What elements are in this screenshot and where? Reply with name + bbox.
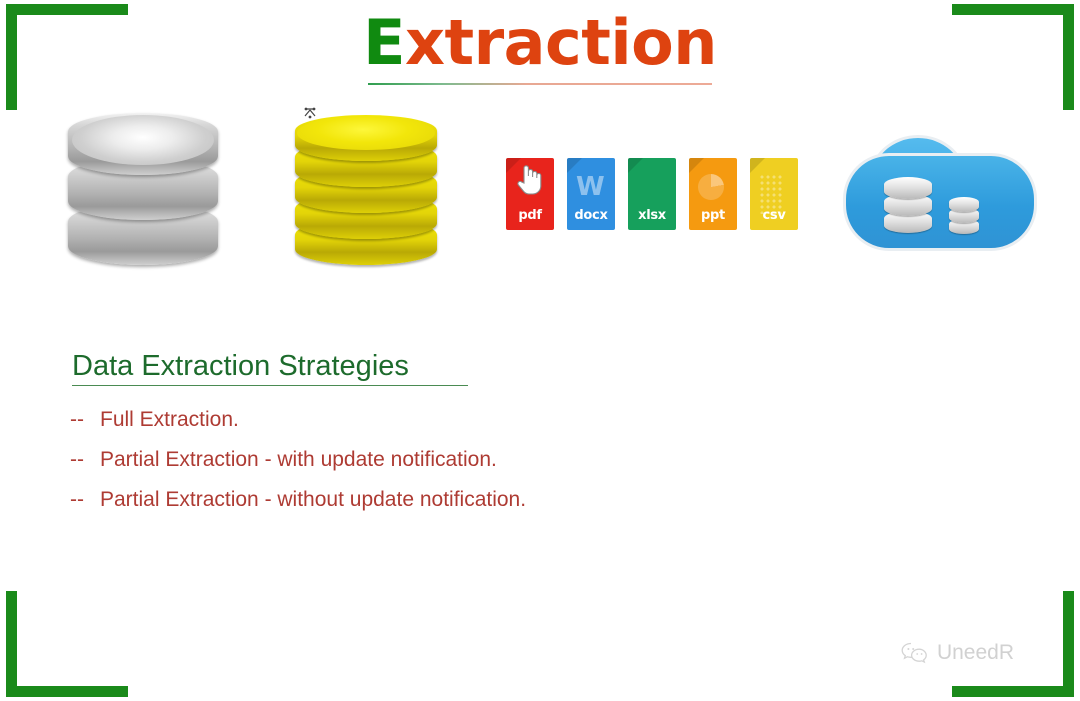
cloud-body xyxy=(843,153,1037,251)
bullet-marker: -- xyxy=(70,440,100,480)
file-icon-label: csv xyxy=(750,208,798,223)
file-icon-label: pdf xyxy=(506,208,554,223)
bullet-marker: -- xyxy=(70,400,100,440)
bullet-text: Partial Extraction - without update noti… xyxy=(100,480,526,520)
word-w-glyph-icon: W xyxy=(576,174,605,200)
file-icon-xlsx[interactable]: xlsx xyxy=(628,158,676,230)
list-item: -- Partial Extraction - without update n… xyxy=(70,480,870,520)
file-type-icon-group: pdf W docx xlsx ppt xyxy=(506,158,798,230)
list-item: -- Full Extraction. xyxy=(70,400,870,440)
watermark: UneedR xyxy=(901,641,1014,665)
bullet-text: Full Extraction. xyxy=(100,400,239,440)
page-fold-corner xyxy=(750,158,765,173)
database-yellow-icon xyxy=(295,115,437,263)
hand-cursor-glyph xyxy=(516,162,542,196)
bracket-bar-horizontal xyxy=(6,686,128,697)
wechat-icon xyxy=(901,641,929,665)
database-silver-icon xyxy=(68,113,218,265)
file-icon-ppt[interactable]: ppt xyxy=(689,158,737,230)
db-top-cap xyxy=(72,115,214,165)
file-icon-label: xlsx xyxy=(628,208,676,223)
selection-handle-icon[interactable] xyxy=(303,107,321,123)
bracket-bar-vertical xyxy=(1063,591,1074,697)
wechat-glyph xyxy=(901,641,929,665)
cloud-db-cylinder-large xyxy=(884,177,932,233)
file-icon-csv[interactable]: csv xyxy=(750,158,798,230)
page-fold-corner xyxy=(689,158,704,173)
cloud-database-icon xyxy=(843,135,1031,255)
bullet-text: Partial Extraction - with update notific… xyxy=(100,440,497,480)
db-disc xyxy=(884,177,932,199)
watermark-text: UneedR xyxy=(937,641,1014,665)
bullet-list: -- Full Extraction. -- Partial Extractio… xyxy=(70,400,870,520)
bracket-bar-vertical xyxy=(6,591,17,697)
bullet-marker: -- xyxy=(70,480,100,520)
section-heading: Data Extraction Strategies xyxy=(72,348,468,386)
cloud-db-cylinder-small xyxy=(949,197,979,235)
page-fold-corner xyxy=(567,158,582,173)
slide-canvas: Extraction xyxy=(0,0,1080,701)
selection-handle-glyph xyxy=(303,107,319,121)
pie-chart-icon xyxy=(698,174,724,200)
file-icon-label: docx xyxy=(567,208,615,223)
section-heading-text: Data Extraction Strategies xyxy=(72,350,409,382)
page-fold-corner xyxy=(628,158,643,173)
corner-bracket-bottom-left xyxy=(6,591,128,697)
list-item: -- Partial Extraction - with update noti… xyxy=(70,440,870,480)
file-icon-docx[interactable]: W docx xyxy=(567,158,615,230)
hand-pointer-cursor-icon xyxy=(516,162,542,196)
file-icon-label: ppt xyxy=(689,208,737,223)
db-disc xyxy=(949,197,979,212)
section-heading-underline xyxy=(72,385,468,386)
bracket-bar-horizontal xyxy=(952,686,1074,697)
icon-strip: pdf W docx xlsx ppt xyxy=(0,0,1080,290)
